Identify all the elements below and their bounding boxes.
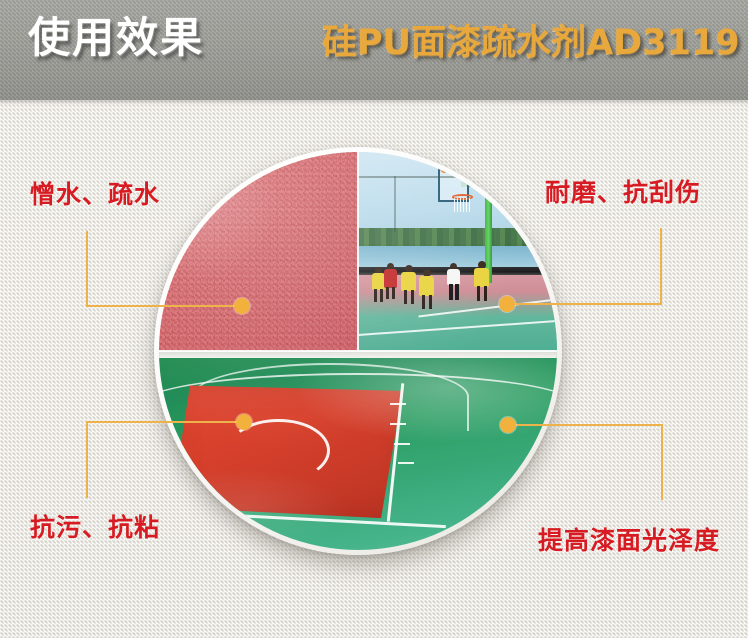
leader-line-bottom-left-horizontal xyxy=(86,421,246,423)
callout-label-top-left: 憎水、疏水 xyxy=(30,182,160,207)
callout-dot-bottom-left xyxy=(236,414,252,430)
lane-tick xyxy=(390,423,406,425)
leader-line-top-left-vertical xyxy=(86,231,88,306)
leader-line-bottom-right-horizontal xyxy=(512,424,663,426)
quadrant-coating-texture xyxy=(159,152,358,351)
quadrant-divider-vertical xyxy=(357,152,359,351)
callout-dot-top-right xyxy=(499,296,515,312)
callout-label-bottom-right: 提高漆面光泽度 xyxy=(538,528,720,553)
lane-tick xyxy=(390,403,406,405)
leader-line-bottom-left-vertical xyxy=(86,421,88,498)
quadrant-divider-horizontal xyxy=(159,350,557,352)
callout-label-top-right: 耐磨、抗刮伤 xyxy=(545,180,701,205)
circle-photo xyxy=(159,152,557,550)
fence-post xyxy=(394,176,396,232)
callout-dot-bottom-right xyxy=(500,417,516,433)
header-bar: 使用效果 硅PU面漆疏水剂AD3119 xyxy=(0,0,748,100)
callout-label-bottom-left: 抗污、抗粘 xyxy=(30,515,160,540)
quadrant-court-floor xyxy=(159,351,557,550)
leader-line-top-right-horizontal xyxy=(507,303,662,305)
quadrant-basketball-game xyxy=(358,152,557,351)
product-title: 硅PU面漆疏水剂AD3119 xyxy=(322,26,740,61)
lane-tick xyxy=(394,443,410,445)
fence-line xyxy=(358,176,557,178)
basketball xyxy=(440,164,449,173)
circle-photo-frame xyxy=(154,147,562,555)
leader-line-bottom-right-vertical xyxy=(661,424,663,500)
page-title: 使用效果 xyxy=(28,17,204,59)
hoop-net xyxy=(454,198,472,212)
treeline xyxy=(358,228,557,246)
callout-dot-top-left xyxy=(234,298,250,314)
lane-tick xyxy=(398,462,414,464)
leader-line-top-right-vertical xyxy=(660,228,662,304)
leader-line-top-left-horizontal xyxy=(86,305,244,307)
court-top-edge xyxy=(159,351,557,358)
